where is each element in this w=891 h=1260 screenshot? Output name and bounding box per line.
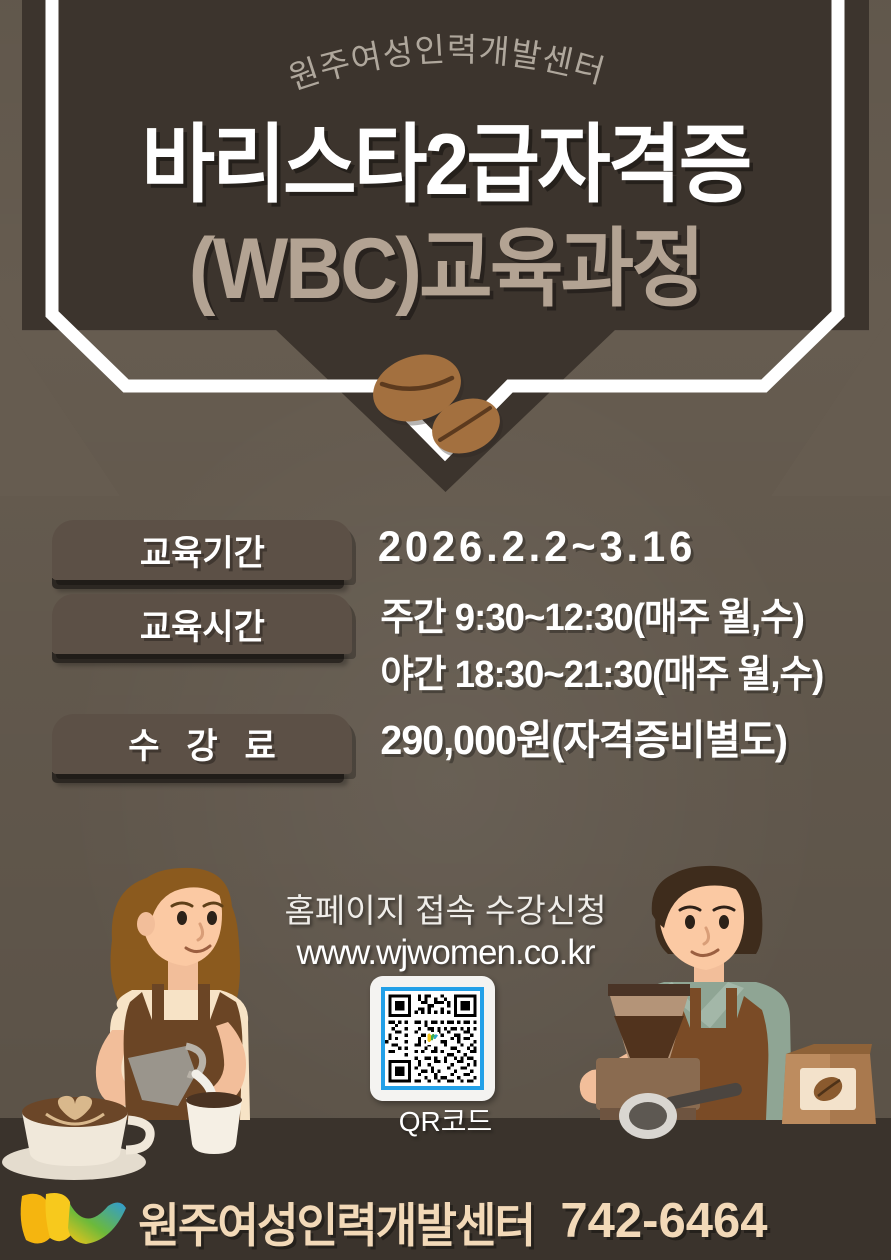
label-pill-holder: 교육시간	[52, 594, 352, 654]
info-row-fee: 수 강 료 290,000원(자격증비별도)	[0, 714, 891, 774]
footer-bar: 원주여성인력개발센터 742-6464	[0, 1182, 891, 1260]
wonju-center-logo-icon	[12, 1186, 130, 1256]
info-row-period: 교육기간 2026.2.2~3.16	[0, 520, 891, 580]
poster-root: 원주여성인력개발센터 바리스타2급자격증 (WBC)교육과정 교육기간 2026…	[0, 0, 891, 1260]
label-pill-schedule: 교육시간	[52, 594, 352, 654]
label-pill-fee: 수 강 료	[52, 714, 352, 774]
footer-organization: 원주여성인력개발센터	[138, 1187, 534, 1256]
value-col-fee: 290,000원(자격증비별도)	[352, 714, 891, 764]
qr-caption: QR코드	[0, 1100, 891, 1140]
info-row-schedule: 교육시간 주간 9:30~12:30(매주 월,수) 야간 18:30~21:3…	[0, 594, 891, 698]
value-period: 2026.2.2~3.16	[378, 522, 883, 573]
value-col-schedule: 주간 9:30~12:30(매주 월,수) 야간 18:30~21:30(매주 …	[352, 594, 891, 698]
label-text-schedule: 교육시간	[140, 599, 265, 650]
qr-code[interactable]	[370, 976, 495, 1101]
label-text-fee: 수 강 료	[120, 718, 285, 769]
coffee-bean-icon	[368, 352, 508, 462]
shield-corner-cut-left	[0, 316, 120, 496]
value-schedule-night: 야간 18:30~21:30(매주 월,수)	[380, 653, 880, 698]
value-fee: 290,000원(자격증비별도)	[380, 716, 880, 764]
label-text-period: 교육기간	[140, 525, 265, 576]
label-pill-period: 교육기간	[52, 520, 352, 580]
qr-code-inner	[381, 987, 484, 1090]
footer-phone: 742-6464	[560, 1193, 767, 1249]
male-barista-illustration	[580, 866, 876, 1139]
label-pill-holder: 교육기간	[52, 520, 352, 580]
label-pill-holder: 수 강 료	[52, 714, 352, 774]
poster-title-line-2: (WBC)교육과정	[31, 198, 860, 323]
course-info-list: 교육기간 2026.2.2~3.16 교육시간 주간 9:30~12:30(매주…	[0, 520, 891, 788]
value-schedule-day: 주간 9:30~12:30(매주 월,수)	[380, 596, 880, 641]
value-col-period: 2026.2.2~3.16	[352, 520, 891, 573]
qr-code-matrix	[385, 991, 480, 1086]
shield-corner-cut-right	[771, 316, 891, 496]
